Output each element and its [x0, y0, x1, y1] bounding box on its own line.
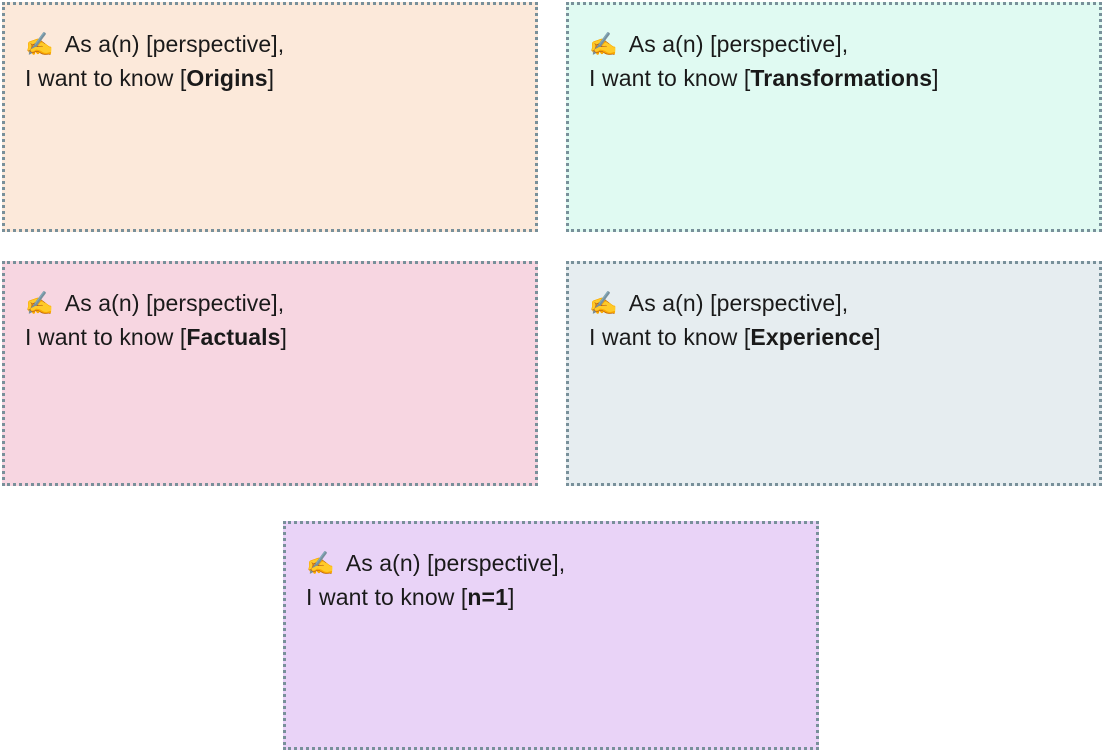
- card-factuals-line2: I want to know [Factuals]: [25, 320, 515, 354]
- card-transformations-keyword: Transformations: [750, 65, 932, 91]
- card-experience[interactable]: ✍️As a(n) [perspective], I want to know …: [566, 261, 1102, 486]
- card-origins-line2-prefix: I want to know [: [25, 65, 186, 91]
- card-n1-line1: ✍️As a(n) [perspective],: [306, 546, 796, 580]
- card-n1-keyword: n=1: [467, 584, 508, 610]
- writing-hand-icon: ✍️: [25, 27, 54, 61]
- card-experience-line2-prefix: I want to know [: [589, 324, 750, 350]
- writing-hand-icon: ✍️: [25, 286, 54, 320]
- card-experience-line1: ✍️As a(n) [perspective],: [589, 286, 1079, 320]
- card-factuals-line1-text: As a(n) [perspective],: [65, 290, 285, 316]
- card-origins-line2-suffix: ]: [268, 65, 275, 91]
- card-factuals-line2-suffix: ]: [281, 324, 288, 350]
- card-experience-keyword: Experience: [750, 324, 874, 350]
- card-n1-line2-prefix: I want to know [: [306, 584, 467, 610]
- card-transformations-text: ✍️As a(n) [perspective], I want to know …: [589, 27, 1079, 95]
- card-n1-line2-suffix: ]: [508, 584, 515, 610]
- writing-hand-icon: ✍️: [589, 27, 618, 61]
- card-transformations[interactable]: ✍️As a(n) [perspective], I want to know …: [566, 2, 1102, 232]
- card-transformations-line2-suffix: ]: [932, 65, 939, 91]
- card-experience-line2-suffix: ]: [874, 324, 881, 350]
- card-origins-line1-text: As a(n) [perspective],: [65, 31, 285, 57]
- card-board: ✍️As a(n) [perspective], I want to know …: [0, 0, 1108, 754]
- card-transformations-line1-text: As a(n) [perspective],: [629, 31, 849, 57]
- card-factuals[interactable]: ✍️As a(n) [perspective], I want to know …: [2, 261, 538, 486]
- card-n1-text: ✍️As a(n) [perspective], I want to know …: [306, 546, 796, 614]
- card-n1-line1-text: As a(n) [perspective],: [346, 550, 566, 576]
- card-origins-line1: ✍️As a(n) [perspective],: [25, 27, 515, 61]
- card-origins-text: ✍️As a(n) [perspective], I want to know …: [25, 27, 515, 95]
- card-factuals-line2-prefix: I want to know [: [25, 324, 186, 350]
- card-factuals-keyword: Factuals: [186, 324, 280, 350]
- card-factuals-line1: ✍️As a(n) [perspective],: [25, 286, 515, 320]
- card-n1-line2: I want to know [n=1]: [306, 580, 796, 614]
- card-origins[interactable]: ✍️As a(n) [perspective], I want to know …: [2, 2, 538, 232]
- card-experience-text: ✍️As a(n) [perspective], I want to know …: [589, 286, 1079, 354]
- card-origins-line2: I want to know [Origins]: [25, 61, 515, 95]
- card-transformations-line1: ✍️As a(n) [perspective],: [589, 27, 1079, 61]
- card-factuals-text: ✍️As a(n) [perspective], I want to know …: [25, 286, 515, 354]
- card-transformations-line2: I want to know [Transformations]: [589, 61, 1079, 95]
- writing-hand-icon: ✍️: [306, 546, 335, 580]
- card-transformations-line2-prefix: I want to know [: [589, 65, 750, 91]
- card-origins-keyword: Origins: [186, 65, 267, 91]
- card-experience-line1-text: As a(n) [perspective],: [629, 290, 849, 316]
- card-experience-line2: I want to know [Experience]: [589, 320, 1079, 354]
- writing-hand-icon: ✍️: [589, 286, 618, 320]
- card-n1[interactable]: ✍️As a(n) [perspective], I want to know …: [283, 521, 819, 750]
